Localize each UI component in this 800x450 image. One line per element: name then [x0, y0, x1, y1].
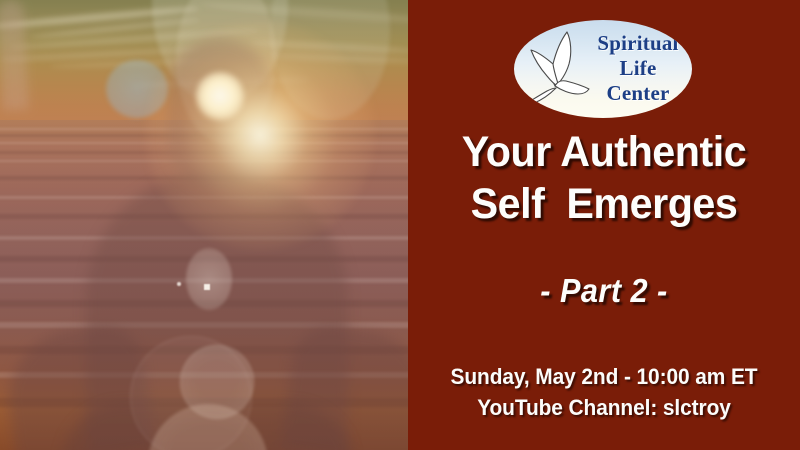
sunset-meditation-photo	[0, 0, 408, 450]
logo-line-2: Life	[588, 56, 688, 81]
schedule-channel: YouTube Channel: slctroy	[418, 392, 790, 423]
logo-text: Spiritual Life Center	[588, 31, 688, 106]
part-subtitle: - Part 2 -	[422, 272, 787, 310]
lens-flare-oval	[186, 248, 232, 310]
schedule-datetime: Sunday, May 2nd - 10:00 am ET	[418, 361, 790, 392]
lens-flare-spark	[177, 282, 181, 286]
sun-core	[196, 72, 244, 120]
title-panel: Spiritual Life Center Your Authentic Sel…	[408, 0, 800, 450]
lens-flare-spark	[204, 284, 210, 290]
page-title: Your Authentic Self Emerges	[416, 126, 792, 230]
page-title-line-1: Your Authentic	[416, 126, 792, 178]
spiritual-life-center-logo: Spiritual Life Center	[514, 20, 692, 118]
sun-glow	[145, 20, 375, 250]
page-title-line-2: Self Emerges	[416, 178, 792, 230]
logo-line-3: Center	[588, 81, 688, 106]
logo-line-1: Spiritual	[588, 31, 688, 56]
schedule-info: Sunday, May 2nd - 10:00 am ET YouTube Ch…	[418, 361, 790, 423]
video-thumbnail: Spiritual Life Center Your Authentic Sel…	[0, 0, 800, 450]
